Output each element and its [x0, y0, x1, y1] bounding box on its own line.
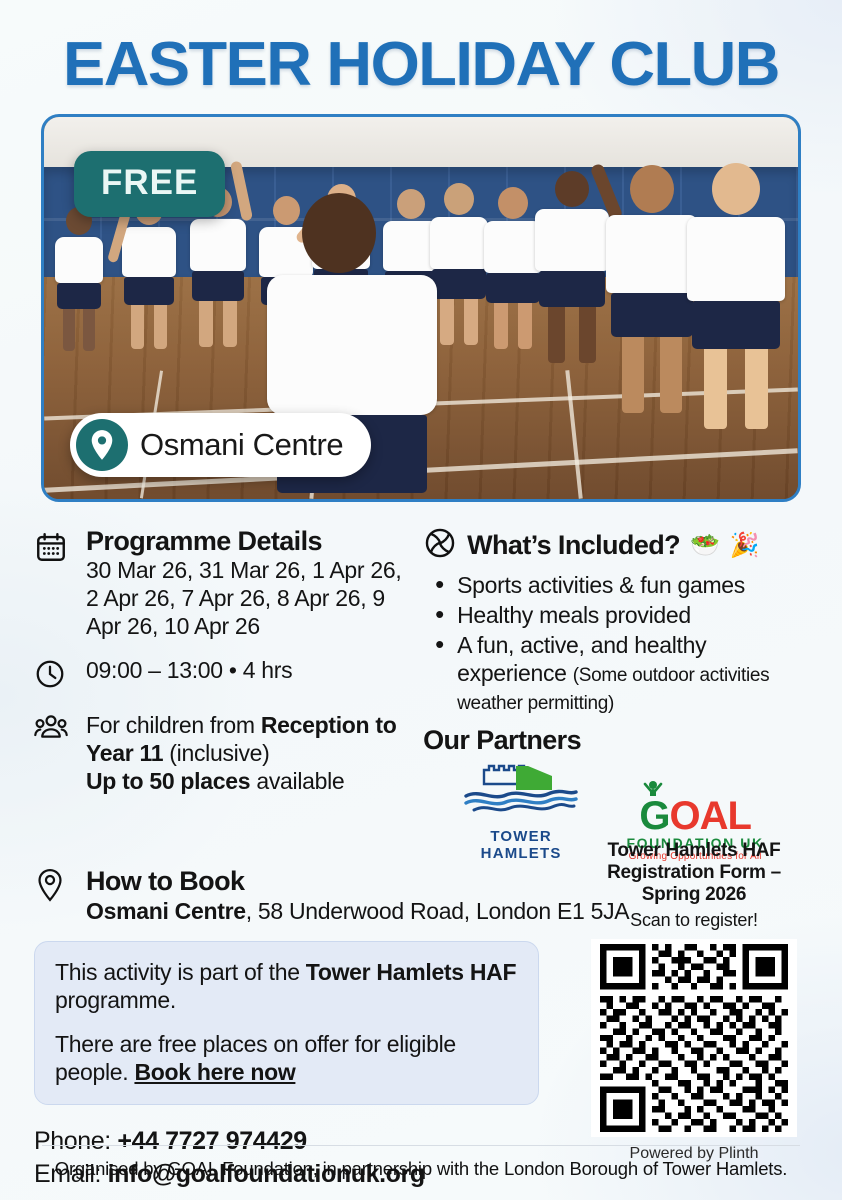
ball-icon — [423, 526, 457, 565]
list-item: Healthy meals provided — [431, 601, 808, 629]
child-figure — [118, 195, 180, 349]
child-figure — [52, 207, 106, 351]
included-heading: What’s Included? — [467, 530, 680, 560]
included-list: Sports activities & fun games Healthy me… — [431, 571, 808, 715]
location-pill: Osmani Centre — [70, 413, 371, 477]
left-column: Programme Details 30 Mar 26, 31 Mar 26, … — [34, 526, 413, 862]
programme-time-row: 09:00 – 13:00 • 4 hrs — [34, 654, 413, 695]
qr-title: Tower Hamlets HAF Registration Form – Sp… — [580, 840, 808, 906]
phone-value[interactable]: +44 7727 974429 — [117, 1127, 306, 1155]
venue-address: , 58 Underwood Road, London E1 5JA — [246, 898, 630, 924]
list-item: A fun, active, and healthy experience (S… — [431, 631, 808, 715]
tower-hamlets-logo: TOWER HAMLETS — [457, 758, 585, 862]
footer-divider — [42, 1145, 800, 1146]
goal-wordmark: GOAL — [615, 797, 775, 835]
places-bold: Up to 50 places — [86, 768, 250, 794]
people-icon — [34, 709, 72, 795]
phone-label: Phone: — [34, 1127, 117, 1155]
how-to-book-heading: How to Book — [86, 866, 629, 896]
haf-info-line2: There are free places on offer for eligi… — [55, 1030, 518, 1086]
programme-audience: For children from Reception to Year 11 (… — [86, 709, 413, 795]
free-badge: FREE — [74, 151, 225, 217]
haf-info-line1: This activity is part of the Tower Hamle… — [55, 958, 518, 1014]
audience-post: (inclusive) — [163, 740, 269, 766]
court-line — [565, 371, 582, 499]
programme-time: 09:00 – 13:00 • 4 hrs — [86, 654, 292, 695]
audience-pre: For children from — [86, 712, 261, 738]
hero-photo: FREE Osmani Centre — [41, 114, 801, 502]
book-here-now-link[interactable]: Book here now — [134, 1059, 295, 1085]
salad-emoji-icon: 🥗 — [690, 531, 720, 560]
location-pill-label: Osmani Centre — [140, 427, 343, 463]
qr-subtitle: Scan to register! — [580, 910, 808, 931]
programme-dates: 30 Mar 26, 31 Mar 26, 1 Apr 26, 2 Apr 26… — [86, 556, 406, 640]
location-pin-icon — [76, 419, 128, 471]
how-to-book-address: Osmani Centre, 58 Underwood Road, London… — [86, 897, 629, 925]
programme-audience-row: For children from Reception to Year 11 (… — [34, 709, 413, 795]
partners-heading: Our Partners — [423, 725, 808, 756]
programme-details-row: Programme Details 30 Mar 26, 31 Mar 26, … — [34, 526, 413, 640]
goal-oal: OAL — [669, 794, 750, 838]
included-header: What’s Included? 🥗 🎉 — [423, 526, 808, 565]
places-post: available — [250, 768, 344, 794]
detail-columns: Programme Details 30 Mar 26, 31 Mar 26, … — [34, 526, 808, 862]
clock-icon — [34, 654, 72, 695]
list-item: Sports activities & fun games — [431, 571, 808, 599]
venue-name: Osmani Centre — [86, 898, 246, 924]
location-pin-icon — [34, 864, 72, 924]
party-emoji-icon: 🎉 — [730, 531, 760, 560]
qr-panel: Tower Hamlets HAF Registration Form – Sp… — [580, 840, 808, 1163]
haf-line1-pre: This activity is part of the — [55, 959, 306, 985]
page-title: EASTER HOLIDAY CLUB — [26, 0, 815, 96]
haf-line1-bold: Tower Hamlets HAF — [306, 959, 516, 985]
tower-hamlets-label: TOWER HAMLETS — [457, 828, 585, 862]
footer-text: Organised by GOAL Foundation, in partner… — [0, 1158, 842, 1180]
calendar-icon — [34, 526, 72, 640]
child-figure — [680, 163, 792, 429]
haf-line1-post: programme. — [55, 987, 176, 1013]
qr-code-icon[interactable] — [591, 939, 797, 1137]
poster-root: EASTER HOLIDAY CLUB — [0, 0, 842, 1200]
programme-heading: Programme Details — [86, 526, 406, 556]
haf-info-box: This activity is part of the Tower Hamle… — [34, 941, 539, 1105]
right-column: What’s Included? 🥗 🎉 Sports activities &… — [413, 526, 808, 862]
